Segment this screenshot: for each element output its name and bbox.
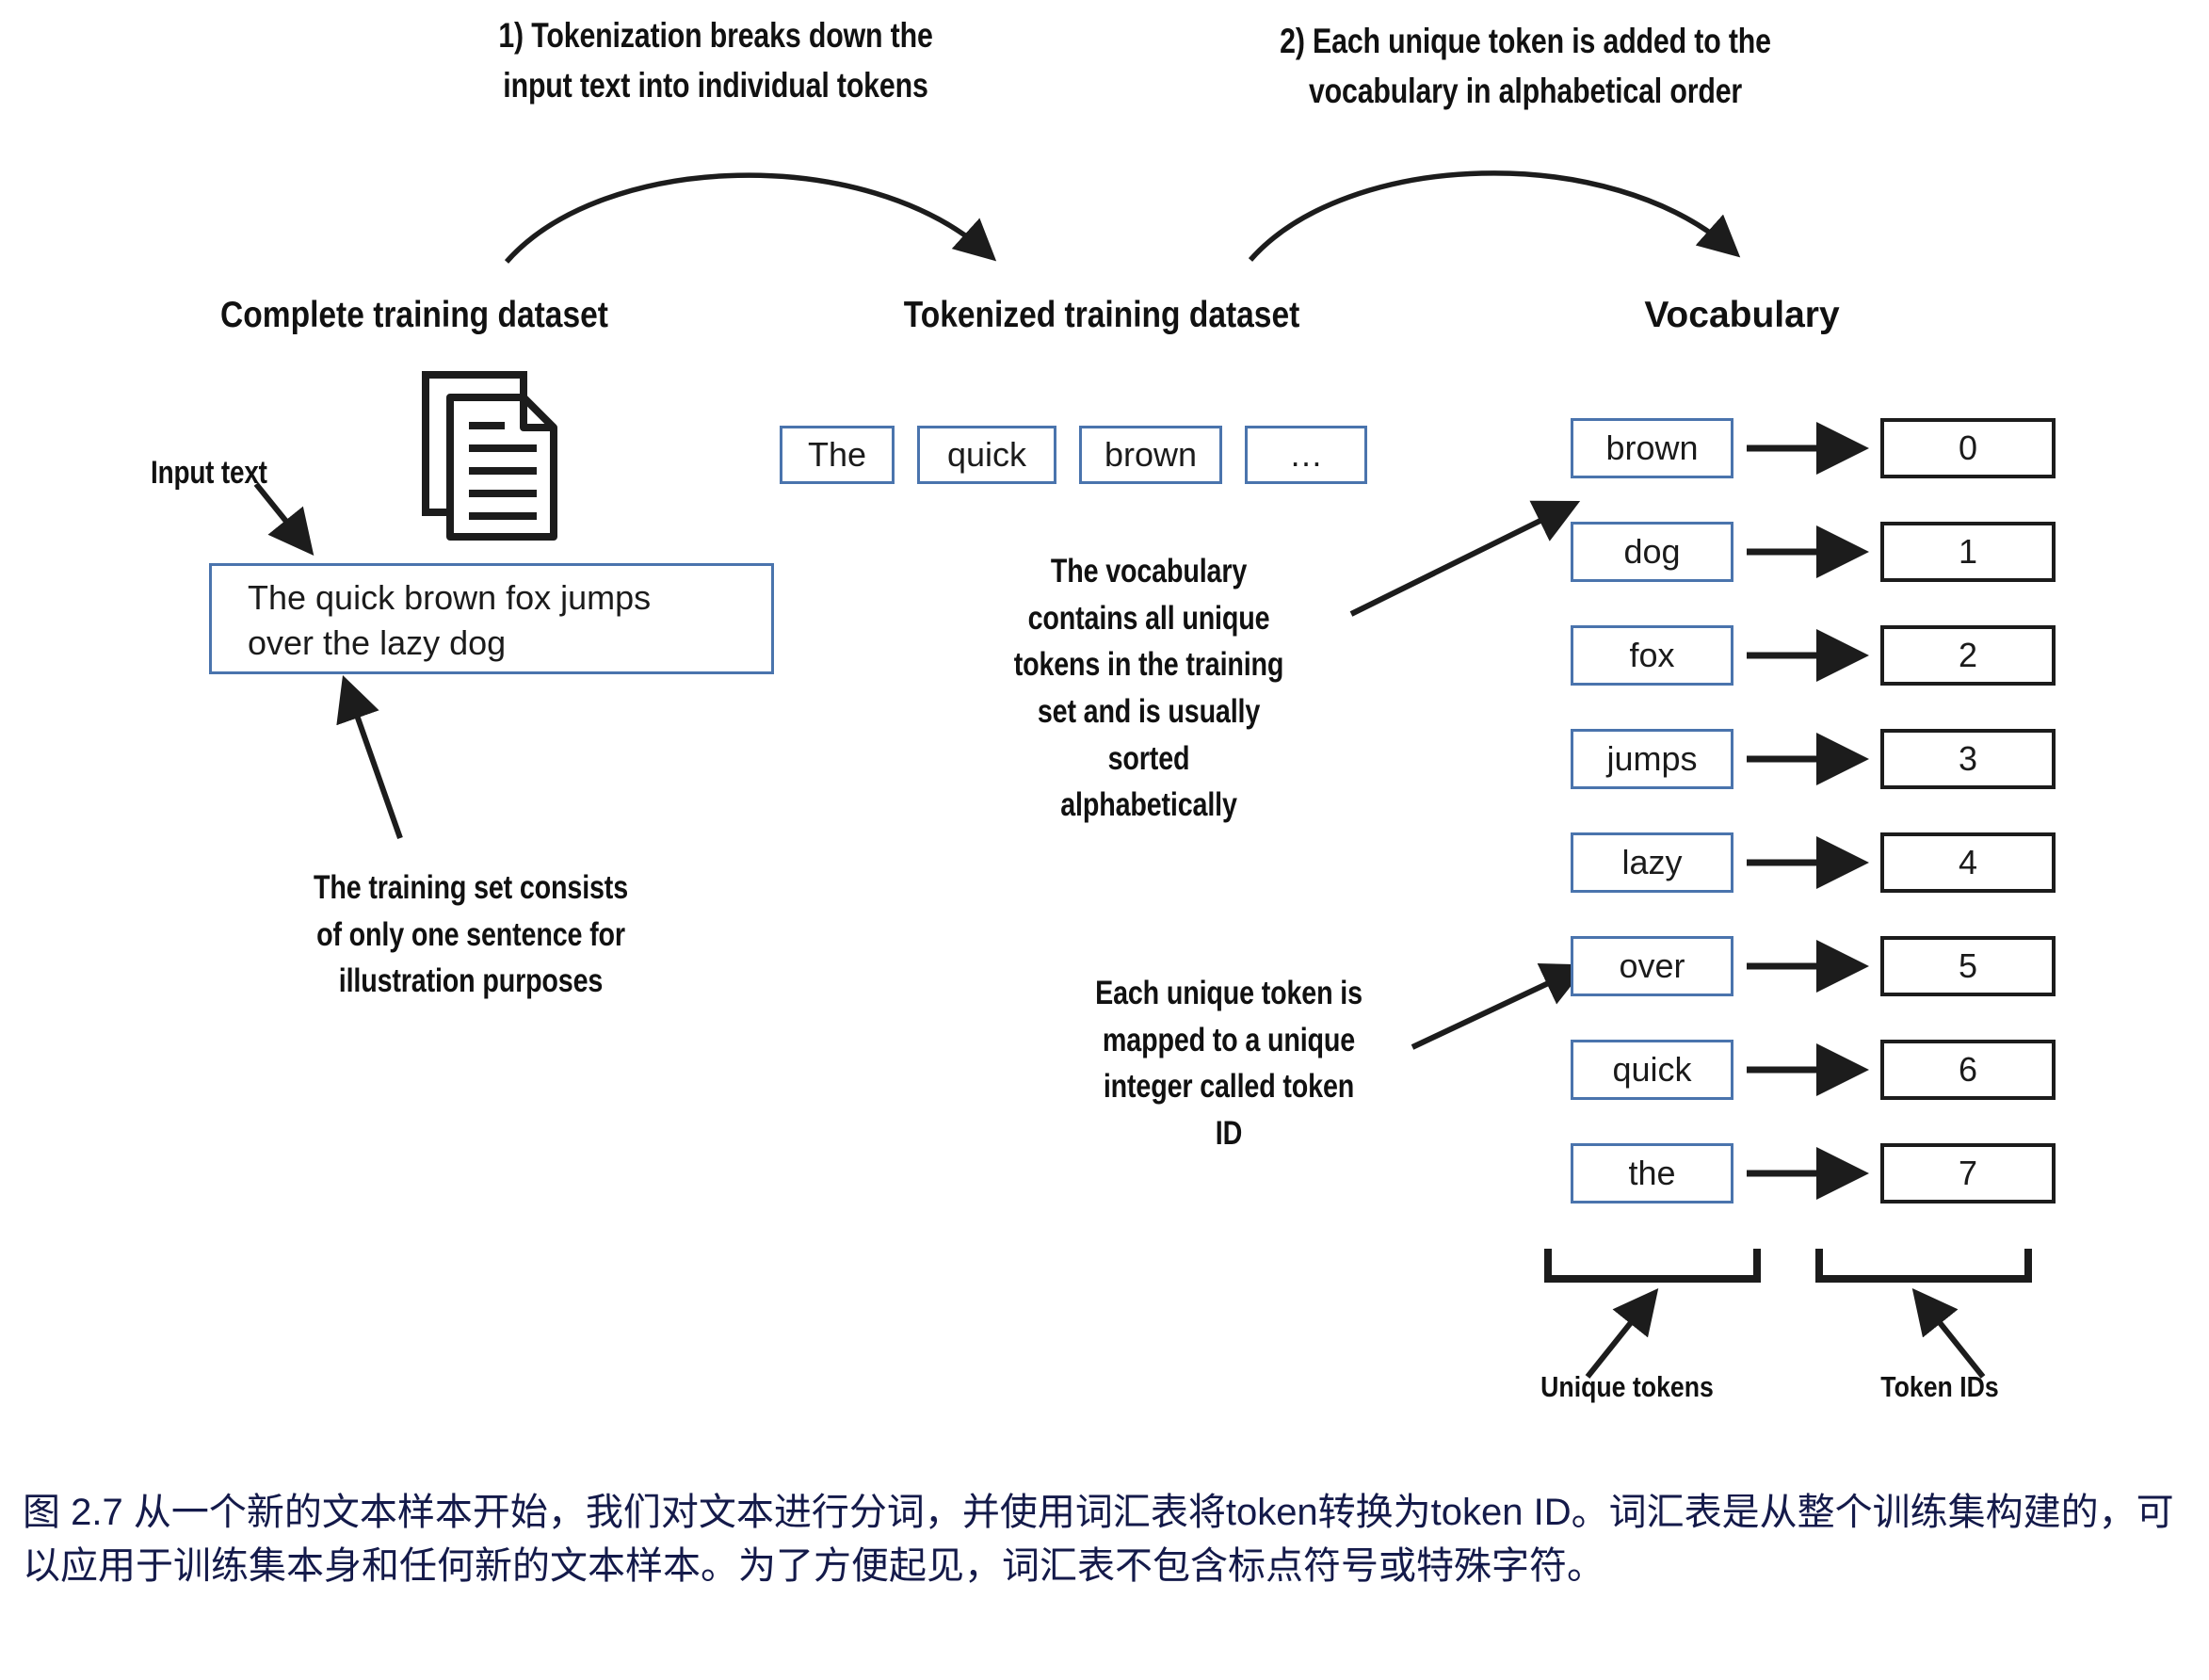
unique-tokens-label: Unique tokens (1506, 1370, 1749, 1404)
token-ids-bracket (1815, 1245, 2032, 1288)
tokenized-token-row: The quick brown … (780, 426, 1367, 484)
vocab-row: dog 1 (1571, 522, 2056, 582)
map-arrow-icon (1745, 1160, 1869, 1187)
token-ids-label: Token IDs (1843, 1370, 2037, 1404)
tokenized-dataset-title: Tokenized training dataset (850, 295, 1352, 336)
input-text-arrow (247, 471, 360, 574)
map-arrow-icon (1745, 849, 1869, 876)
step-2-curved-arrow (1233, 149, 1798, 281)
vocabulary-title: Vocabulary (1544, 295, 1940, 336)
token-id-box[interactable]: 4 (1880, 832, 2056, 893)
figure-caption: 图 2.7 从一个新的文本样本开始，我们对文本进行分词，并使用词汇表将token… (23, 1486, 2198, 1593)
vocab-row: fox 2 (1571, 625, 2056, 686)
complete-dataset-title: Complete training dataset (171, 295, 657, 336)
step-2-heading: 2) Each unique token is added to the voc… (1263, 17, 1788, 116)
vocab-row: over 5 (1571, 936, 2056, 996)
vocabulary-note: The vocabulary contains all unique token… (979, 548, 1319, 829)
token-chip[interactable]: The (780, 426, 895, 484)
token-id-box[interactable]: 6 (1880, 1040, 2056, 1100)
training-set-note-arrow (330, 676, 452, 864)
step-1-curved-arrow (490, 151, 1055, 283)
token-id-box[interactable]: 3 (1880, 729, 2056, 789)
token-chip[interactable]: brown (1079, 426, 1222, 484)
vocab-token-box[interactable]: quick (1571, 1040, 1733, 1100)
token-id-note: Each unique token is mapped to a unique … (1067, 970, 1391, 1157)
vocab-token-box[interactable]: jumps (1571, 729, 1733, 789)
map-arrow-icon (1745, 953, 1869, 979)
token-id-box[interactable]: 5 (1880, 936, 2056, 996)
map-arrow-icon (1745, 1057, 1869, 1083)
vocab-row: quick 6 (1571, 1040, 2056, 1100)
token-id-box[interactable]: 2 (1880, 625, 2056, 686)
vocab-token-box[interactable]: lazy (1571, 832, 1733, 893)
map-arrow-icon (1745, 746, 1869, 772)
token-chip[interactable]: quick (917, 426, 1056, 484)
vocab-token-box[interactable]: fox (1571, 625, 1733, 686)
input-text-box[interactable]: The quick brown fox jumps over the lazy … (209, 563, 774, 674)
vocab-token-box[interactable]: brown (1571, 418, 1733, 478)
step-1-heading: 1) Tokenization breaks down the input te… (469, 11, 963, 110)
map-arrow-icon (1745, 642, 1869, 669)
token-id-box[interactable]: 0 (1880, 418, 2056, 478)
token-id-box[interactable]: 7 (1880, 1143, 2056, 1203)
unique-tokens-bracket (1544, 1245, 1761, 1288)
training-set-note: The training set consists of only one se… (263, 864, 680, 1005)
vocab-row: brown 0 (1571, 418, 2056, 478)
vocab-token-box[interactable]: dog (1571, 522, 1733, 582)
map-arrow-icon (1745, 539, 1869, 565)
vocab-row: the 7 (1571, 1143, 2056, 1203)
vocab-token-box[interactable]: over (1571, 936, 1733, 996)
documents-icon (422, 371, 572, 559)
vocab-row: lazy 4 (1571, 832, 2056, 893)
vocab-token-box[interactable]: the (1571, 1143, 1733, 1203)
token-id-box[interactable]: 1 (1880, 522, 2056, 582)
map-arrow-icon (1745, 435, 1869, 461)
vocab-row: jumps 3 (1571, 729, 2056, 789)
